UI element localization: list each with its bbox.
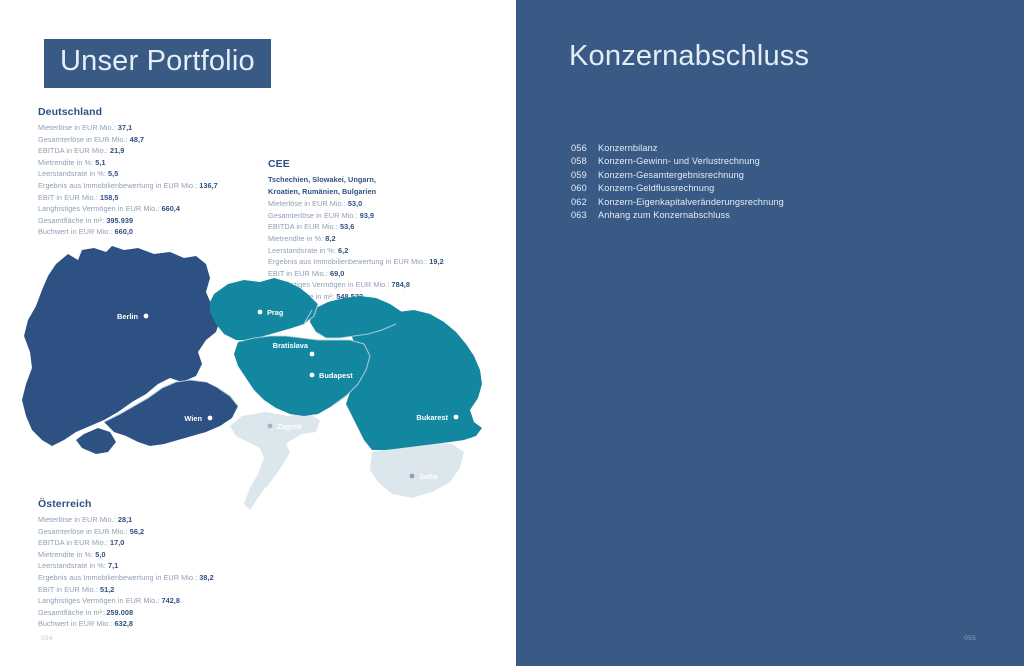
svg-text:Bukarest: Bukarest [416, 413, 448, 422]
toc-entry-label: Konzern-Gesamtergebnisrechnung [598, 170, 744, 180]
region-heading: CEE [268, 158, 444, 170]
table-of-contents: 056Konzernbilanz058Konzern-Gewinn- und V… [571, 143, 951, 223]
metric-row: EBITDA in EUR Mio.: 53,6 [268, 221, 444, 233]
metric-row: Mietrendite in %: 5,0 [38, 549, 214, 561]
metric-value: 395.939 [106, 216, 133, 225]
toc-entry[interactable]: 063Anhang zum Konzernabschluss [571, 210, 951, 220]
metric-value: 21,9 [110, 146, 124, 155]
page-spread: Unser Portfolio Deutschland Mieterlöse i… [0, 0, 1024, 666]
toc-page-number: 063 [571, 210, 598, 220]
region-subregion-line: Kroatien, Rumänien, Bulgarien [268, 186, 444, 198]
toc-entry-label: Konzern-Gewinn- und Verlustrechnung [598, 156, 760, 166]
metric-value: 136,7 [199, 181, 218, 190]
toc-page-number: 062 [571, 197, 598, 207]
metric-label: Gesamterlöse in EUR Mio.: [268, 211, 360, 220]
section-title: Konzernabschluss [569, 40, 809, 73]
svg-text:Berlin: Berlin [117, 312, 138, 321]
toc-entry[interactable]: 060Konzern-Geldflussrechnung [571, 183, 951, 193]
metric-row: Mietrendite in %: 5,1 [38, 157, 218, 169]
region-rows: Mieterlöse in EUR Mio.: 37,1Gesamterlöse… [38, 122, 218, 238]
metric-value: 742,8 [161, 596, 180, 605]
metric-label: Gesamtfläche in m²: [38, 216, 106, 225]
svg-text:Prag: Prag [267, 308, 284, 317]
metric-row: EBIT in EUR Mio.: 51,2 [38, 584, 214, 596]
metric-value: 53,0 [348, 199, 362, 208]
metric-value: 17,0 [110, 538, 124, 547]
metric-row: Ergebnis aus Immobilienbewertung in EUR … [38, 180, 218, 192]
metric-row: Langfristiges Vermögen in EUR Mio.: 742,… [38, 595, 214, 607]
metric-value: 660,0 [115, 227, 134, 236]
metric-label: Mietrendite in %: [38, 158, 95, 167]
toc-entry[interactable]: 056Konzernbilanz [571, 143, 951, 153]
metric-label: EBITDA in EUR Mio.: [38, 538, 110, 547]
metric-label: EBIT in EUR Mio.: [38, 585, 100, 594]
metric-label: Mieterlöse in EUR Mio.: [38, 123, 118, 132]
metric-label: Mieterlöse in EUR Mio.: [268, 199, 348, 208]
metric-value: 56,2 [130, 527, 144, 536]
metric-row: Gesamterlöse in EUR Mio.: 93,9 [268, 210, 444, 222]
toc-entry-label: Konzernbilanz [598, 143, 658, 153]
metric-row: EBITDA in EUR Mio.: 17,0 [38, 537, 214, 549]
metric-value: 48,7 [130, 135, 144, 144]
metric-label: Gesamterlöse in EUR Mio.: [38, 527, 130, 536]
metric-row: Leerstandsrate in %: 5,5 [38, 168, 218, 180]
metric-row: EBITDA in EUR Mio.: 21,9 [38, 145, 218, 157]
metric-row: Gesamtfläche in m²: 395.939 [38, 215, 218, 227]
region-subregion-line: Tschechien, Slowakei, Ungarn, [268, 174, 444, 186]
metric-row: Langfristiges Vermögen in EUR Mio.: 660,… [38, 203, 218, 215]
toc-entry[interactable]: 059Konzern-Gesamtergebnisrechnung [571, 170, 951, 180]
metric-label: Buchwert in EUR Mio.: [38, 619, 115, 628]
metric-value: 5,0 [95, 550, 105, 559]
portfolio-title-box: Unser Portfolio [44, 39, 271, 88]
metric-row: Mieterlöse in EUR Mio.: 37,1 [38, 122, 218, 134]
metric-row: EBIT in EUR Mio.: 158,5 [38, 192, 218, 204]
metric-value: 259.008 [106, 608, 133, 617]
toc-entry[interactable]: 062Konzern-Eigenkapitalveränderungsrechn… [571, 197, 951, 207]
metric-label: Langfristiges Vermögen in EUR Mio.: [38, 596, 161, 605]
region-rows: Mieterlöse in EUR Mio.: 28,1Gesamterlöse… [38, 514, 214, 630]
right-page: Konzernabschluss 056Konzernbilanz058Konz… [516, 0, 1024, 666]
toc-page-number: 056 [571, 143, 598, 153]
metric-value: 93,9 [360, 211, 374, 220]
region-subregions: Tschechien, Slowakei, Ungarn,Kroatien, R… [268, 174, 444, 197]
map-country-bulgaria [370, 442, 464, 498]
metric-row: Buchwert in EUR Mio.: 632,8 [38, 618, 214, 630]
metric-label: Leerstandsrate in %: [38, 169, 108, 178]
region-block-deutschland: Deutschland Mieterlöse in EUR Mio.: 37,1… [38, 106, 218, 238]
metric-label: Langfristiges Vermögen in EUR Mio.: [38, 204, 161, 213]
metric-value: 37,1 [118, 123, 132, 132]
toc-entry[interactable]: 058Konzern-Gewinn- und Verlustrechnung [571, 156, 951, 166]
svg-text:Bratislava: Bratislava [273, 341, 309, 350]
metric-label: Mietrendite in %: [38, 550, 95, 559]
metric-row: Gesamterlöse in EUR Mio.: 48,7 [38, 134, 218, 146]
svg-text:Zagreb: Zagreb [277, 422, 302, 431]
metric-row: Gesamtfläche in m²: 259.008 [38, 607, 214, 619]
svg-text:Sofia: Sofia [419, 472, 438, 481]
europe-portfolio-map: Berlin Wien Prag Bratislava Budap [20, 236, 500, 526]
metric-value: 632,8 [115, 619, 134, 628]
left-page: Unser Portfolio Deutschland Mieterlöse i… [0, 0, 516, 666]
metric-label: Ergebnis aus Immobilienbewertung in EUR … [38, 181, 199, 190]
metric-value: 53,6 [340, 222, 354, 231]
map-country-romania [346, 310, 482, 450]
metric-value: 38,2 [199, 573, 213, 582]
metric-value: 5,5 [108, 169, 118, 178]
metric-row: Gesamterlöse in EUR Mio.: 56,2 [38, 526, 214, 538]
metric-row: Ergebnis aus Immobilienbewertung in EUR … [38, 572, 214, 584]
metric-value: 158,5 [100, 193, 119, 202]
metric-value: 7,1 [108, 561, 118, 570]
metric-label: Gesamterlöse in EUR Mio.: [38, 135, 130, 144]
metric-label: Leerstandsrate in %: [38, 561, 108, 570]
metric-label: Gesamtfläche in m²: [38, 608, 106, 617]
metric-label: Buchwert in EUR Mio.: [38, 227, 115, 236]
region-heading: Deutschland [38, 106, 218, 118]
map-country-croatia [230, 412, 320, 510]
page-title: Unser Portfolio [60, 45, 255, 78]
metric-label: EBIT in EUR Mio.: [38, 193, 100, 202]
metric-label: EBITDA in EUR Mio.: [38, 146, 110, 155]
metric-label: Ergebnis aus Immobilienbewertung in EUR … [38, 573, 199, 582]
toc-entry-label: Konzern-Eigenkapitalveränderungsrechnung [598, 197, 784, 207]
toc-entry-label: Anhang zum Konzernabschluss [598, 210, 730, 220]
svg-text:Wien: Wien [184, 414, 202, 423]
metric-row: Mieterlöse in EUR Mio.: 53,0 [268, 198, 444, 210]
toc-page-number: 058 [571, 156, 598, 166]
svg-text:Budapest: Budapest [319, 371, 353, 380]
toc-page-number: 060 [571, 183, 598, 193]
page-number-right: 055 [964, 635, 976, 642]
page-number-left: 054 [41, 635, 53, 642]
metric-label: EBITDA in EUR Mio.: [268, 222, 340, 231]
metric-row: Leerstandsrate in %: 7,1 [38, 560, 214, 572]
map-country-czechia [210, 278, 318, 340]
toc-page-number: 059 [571, 170, 598, 180]
metric-value: 51,2 [100, 585, 114, 594]
metric-value: 5,1 [95, 158, 105, 167]
metric-value: 660,4 [161, 204, 180, 213]
toc-entry-label: Konzern-Geldflussrechnung [598, 183, 714, 193]
